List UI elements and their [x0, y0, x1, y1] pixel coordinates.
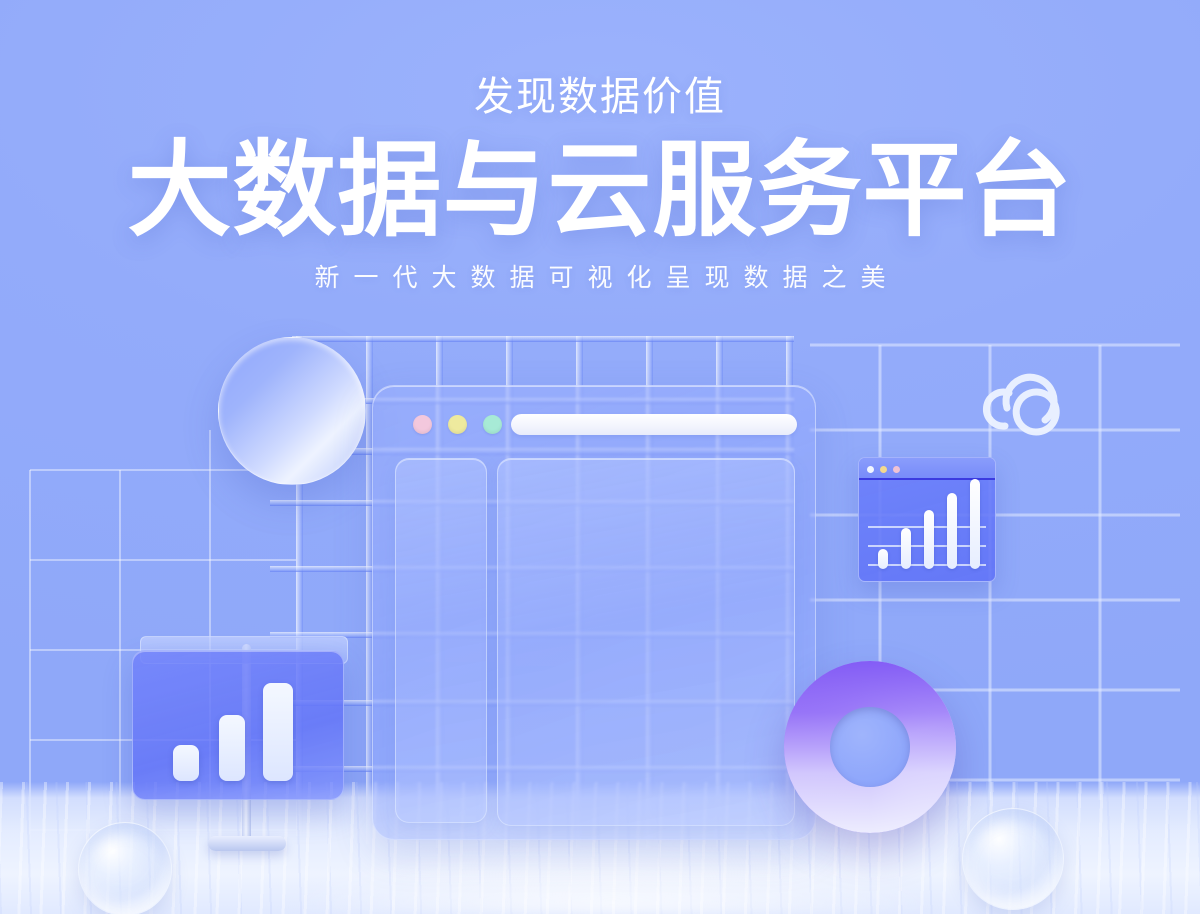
chart-bar	[924, 510, 934, 569]
minimize-dot[interactable]	[448, 415, 467, 434]
maximize-dot[interactable]	[483, 415, 502, 434]
chart-bar	[263, 683, 293, 781]
monitor-stand-base	[208, 836, 286, 851]
chart-bar	[173, 745, 199, 781]
bar-chart-monitor[interactable]	[132, 636, 356, 804]
maximize-dot[interactable]	[893, 466, 900, 473]
close-dot[interactable]	[413, 415, 432, 434]
mini-chart-titlebar	[859, 458, 995, 480]
mini-chart-window[interactable]	[858, 457, 996, 582]
hero-subtitle: 新一代大数据可视化呈现数据之美	[0, 258, 1200, 294]
hero-eyebrow: 发现数据价值	[0, 74, 1200, 120]
gradient-torus	[784, 661, 956, 833]
address-bar[interactable]	[511, 414, 797, 435]
hero-text-block: 发现数据价值 大数据与云服务平台 新一代大数据可视化呈现数据之美	[0, 74, 1200, 294]
minimize-dot[interactable]	[880, 466, 887, 473]
close-dot[interactable]	[867, 466, 874, 473]
chart-bar	[878, 549, 888, 569]
content-pane[interactable]	[497, 458, 795, 826]
cloud-icon	[975, 362, 1067, 438]
chart-bar	[901, 528, 911, 569]
glass-browser-mockup[interactable]	[372, 385, 816, 840]
page-title: 大数据与云服务平台	[0, 138, 1200, 244]
chart-bar	[947, 493, 957, 569]
chart-bar	[219, 715, 245, 781]
sidebar-pane[interactable]	[395, 458, 487, 823]
glass-sphere-left	[78, 822, 172, 914]
glass-sphere-right	[962, 808, 1064, 910]
chart-bar	[970, 479, 980, 569]
monitor-screen	[132, 650, 344, 800]
glass-disc	[218, 337, 366, 485]
hero-banner: 发现数据价值 大数据与云服务平台 新一代大数据可视化呈现数据之美	[0, 0, 1200, 914]
